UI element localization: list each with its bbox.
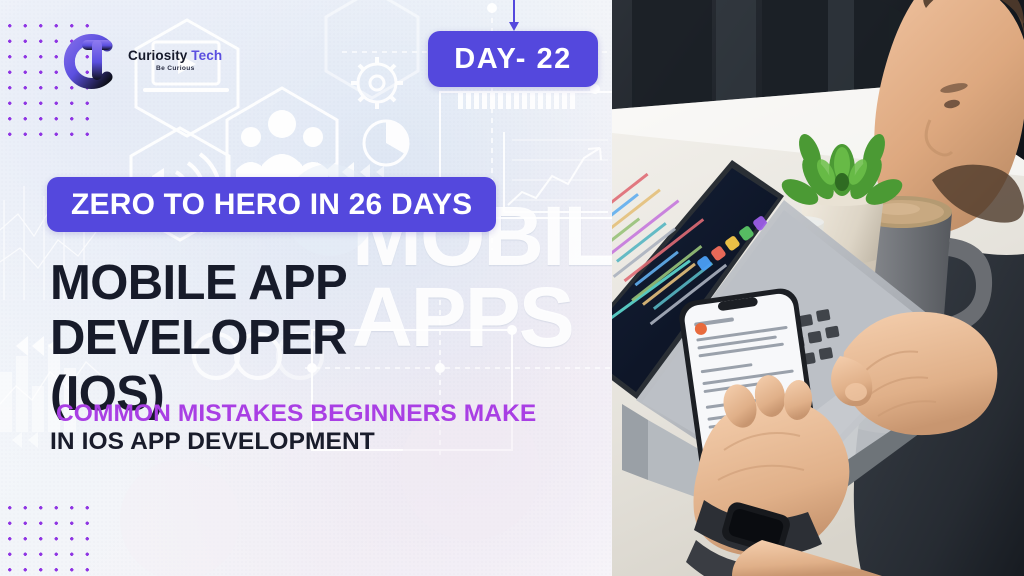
page-title: MOBILE APP DEVELOPER (IOS) (50, 256, 610, 422)
brand-tagline: Be Curious (156, 66, 222, 73)
arrow-down-icon (506, 0, 522, 32)
brand-name-part2: Tech (191, 48, 222, 63)
brand-logo[interactable]: Curiosity Tech Be Curious (60, 30, 222, 92)
subtitle-line1: COMMON MISTAKES BEGINNERS MAKE (56, 400, 536, 428)
dot-grid-icon-bottom (2, 500, 98, 576)
course-duration-pill: ZERO TO HERO IN 26 DAYS (47, 177, 496, 232)
brand-name: Curiosity Tech (128, 49, 222, 63)
developer-at-desk-photo (612, 0, 1024, 576)
day-badge: DAY- 22 (428, 31, 598, 87)
course-duration-label: ZERO TO HERO IN 26 DAYS (71, 188, 472, 222)
curiosity-tech-c-t-monogram-icon (60, 30, 122, 92)
page-title-line1: MOBILE APP DEVELOPER (50, 256, 347, 365)
brand-name-part1: Curiosity (128, 48, 191, 63)
promo-banner: MOBILE APPS (0, 0, 1024, 576)
brand-logo-text: Curiosity Tech Be Curious (128, 49, 222, 72)
subtitle-line2: IN IOS APP DEVELOPMENT (50, 428, 375, 456)
day-badge-label: DAY- 22 (454, 43, 571, 76)
